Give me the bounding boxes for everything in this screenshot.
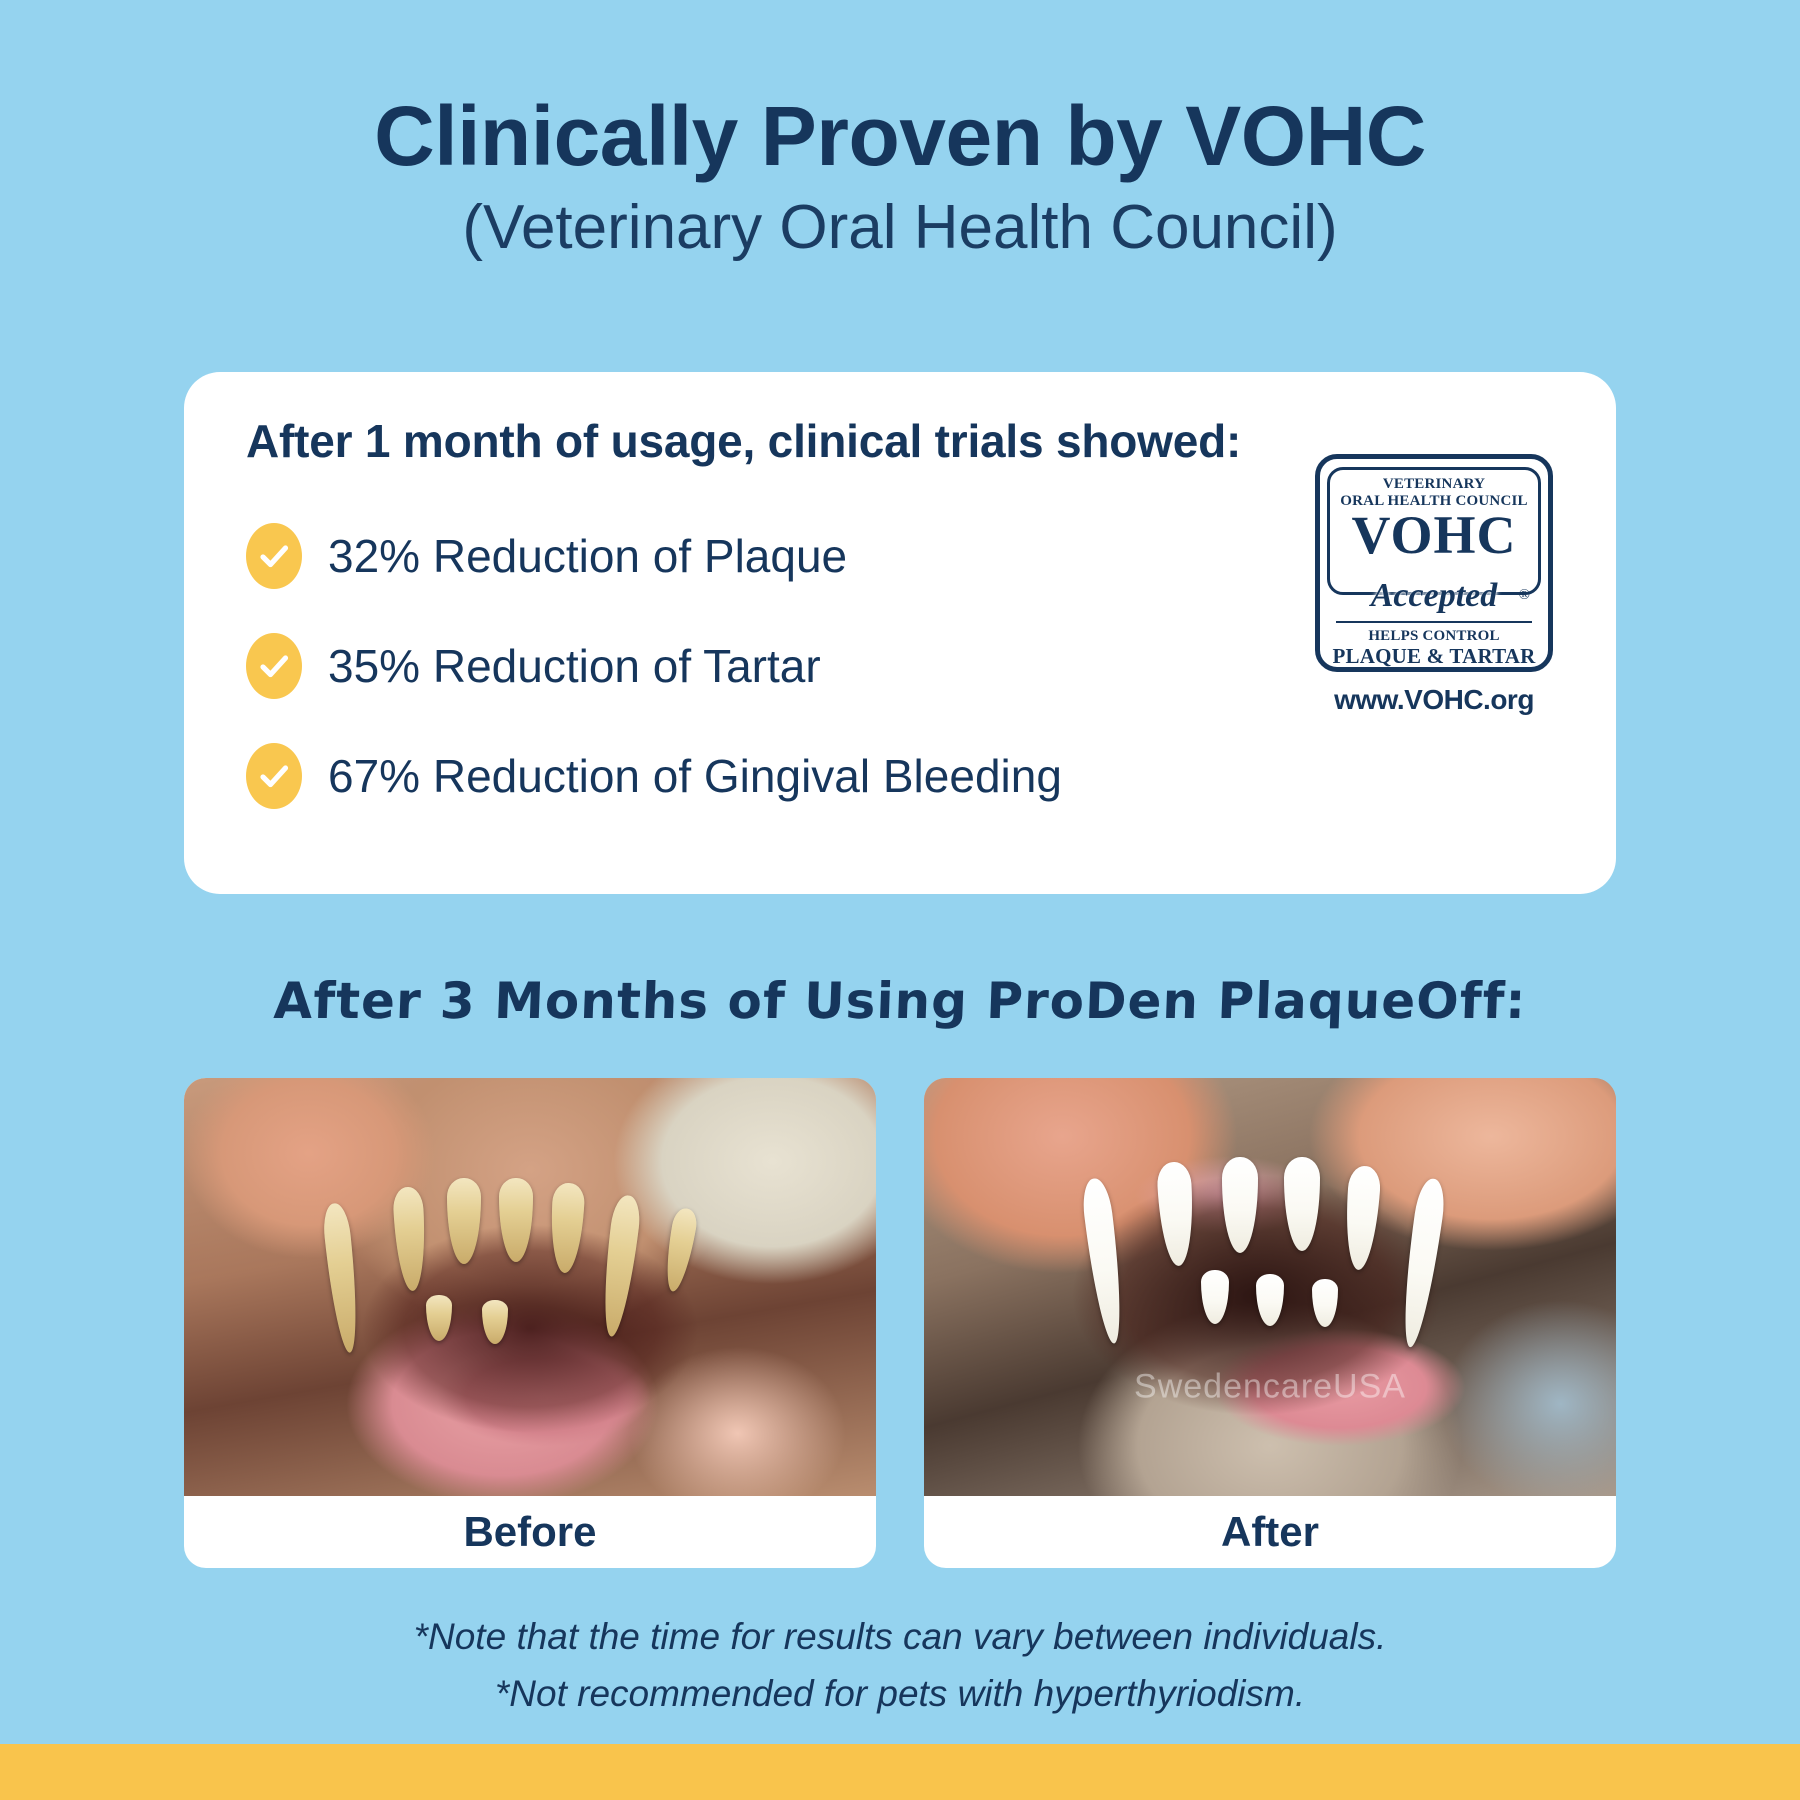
seal-helps-label: HELPS CONTROL xyxy=(1368,628,1499,645)
footnote-2: *Not recommended for pets with hyperthyr… xyxy=(0,1665,1800,1722)
registered-trademark-icon: ® xyxy=(1519,587,1530,604)
footnote-1: *Note that the time for results can vary… xyxy=(0,1608,1800,1665)
before-card: Before xyxy=(184,1078,876,1568)
stat-label: 35% Reduction of Tartar xyxy=(328,639,821,693)
list-item: 32% Reduction of Plaque xyxy=(246,504,1266,608)
vohc-accepted-seal: VETERINARY ORAL HEALTH COUNCIL VOHC Acce… xyxy=(1308,454,1560,724)
page-title: Clinically Proven by VOHC xyxy=(0,92,1800,180)
footnotes: *Note that the time for results can vary… xyxy=(0,1608,1800,1723)
seal-plaque-tartar-label: PLAQUE & TARTAR xyxy=(1333,645,1536,667)
clinical-results-card: After 1 month of usage, clinical trials … xyxy=(184,372,1616,894)
stats-heading: After 1 month of usage, clinical trials … xyxy=(246,414,1241,468)
infographic-page: Clinically Proven by VOHC (Veterinary Or… xyxy=(0,0,1800,1800)
stat-label: 67% Reduction of Gingival Bleeding xyxy=(328,749,1062,803)
check-icon xyxy=(246,523,302,589)
comparison-heading: After 3 Months of Using ProDen PlaqueOff… xyxy=(0,972,1800,1030)
before-after-comparison: Before SwedencareUSA After xyxy=(184,1078,1616,1568)
list-item: 35% Reduction of Tartar xyxy=(246,614,1266,718)
before-caption: Before xyxy=(184,1496,876,1568)
seal-divider xyxy=(1336,621,1532,623)
seal-url: www.VOHC.org xyxy=(1334,684,1534,716)
stats-list: 32% Reduction of Plaque 35% Reduction of… xyxy=(246,504,1266,834)
after-card: SwedencareUSA After xyxy=(924,1078,1616,1568)
after-caption: After xyxy=(924,1496,1616,1568)
after-photo: SwedencareUSA xyxy=(924,1078,1616,1496)
header: Clinically Proven by VOHC (Veterinary Or… xyxy=(0,92,1800,262)
list-item: 67% Reduction of Gingival Bleeding xyxy=(246,724,1266,828)
check-icon xyxy=(246,633,302,699)
stat-label: 32% Reduction of Plaque xyxy=(328,529,847,583)
seal-inner-border: VETERINARY ORAL HEALTH COUNCIL VOHC xyxy=(1327,467,1541,595)
seal-accepted-script: Accepted xyxy=(1371,577,1498,615)
seal-line-1: VETERINARY xyxy=(1383,476,1485,493)
page-subtitle: (Veterinary Oral Health Council) xyxy=(0,194,1800,262)
before-photo-image xyxy=(184,1078,876,1496)
seal-acronym: VOHC xyxy=(1352,509,1517,562)
bottom-accent-bar xyxy=(0,1744,1800,1800)
seal-border: VETERINARY ORAL HEALTH COUNCIL VOHC Acce… xyxy=(1315,454,1553,672)
before-photo xyxy=(184,1078,876,1496)
check-icon xyxy=(246,743,302,809)
